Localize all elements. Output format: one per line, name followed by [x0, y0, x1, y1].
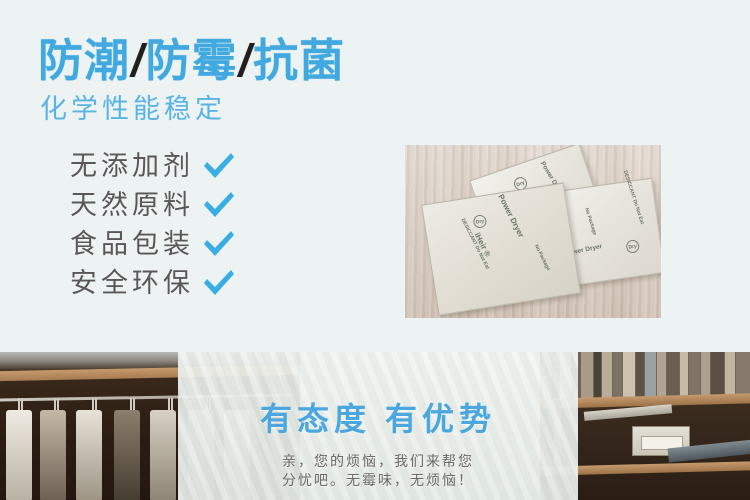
packet-logo: Dry [625, 239, 640, 254]
feature-label: 无添加剂 [70, 150, 194, 182]
garment [150, 410, 176, 500]
list-item: 安全环保 [70, 265, 360, 301]
headline-separator-1: / [130, 35, 146, 86]
banner-subtitle-line-2: 分忧吧。无霉味，无烦恼！ [178, 471, 578, 490]
book [594, 352, 601, 398]
bottom-section: 有态度 有优势 亲，您的烦恼，我们来帮您 分忧吧。无霉味，无烦恼！ [0, 352, 750, 500]
book [736, 352, 750, 398]
headline-part-2: 防霉 [146, 35, 238, 86]
book [680, 352, 688, 398]
garment [76, 410, 102, 500]
check-icon [202, 190, 236, 220]
book [613, 352, 622, 398]
headline-part-3: 抗菌 [253, 35, 345, 86]
book [725, 352, 735, 398]
page-title: 防潮/防霉/抗菌 [38, 36, 345, 86]
packet-logo: Dry [472, 214, 487, 229]
book [657, 352, 666, 398]
banner-subtitle-line-1: 亲，您的烦恼，我们来帮您 [178, 452, 578, 471]
list-item: 食品包装 [70, 226, 360, 262]
desiccant-packet: Dry Power Dryer iHeir ® DESICCANT Do Not… [421, 182, 581, 315]
product-photo: Dry Power Dryer iHeir ® DESICCANT Do Not… [405, 145, 661, 318]
feature-list: 无添加剂 天然原料 食品包装 安全环保 [70, 148, 360, 304]
list-item: 天然原料 [70, 187, 360, 223]
page-subtitle: 化学性能稳定 [40, 92, 226, 126]
garment [6, 410, 32, 500]
garment [40, 410, 66, 500]
check-icon [202, 229, 236, 259]
packet-brand: Power Dryer [496, 193, 525, 239]
promo-banner-page: 防潮/防霉/抗菌 化学性能稳定 无添加剂 天然原料 食品包装 [0, 0, 750, 500]
garment [114, 410, 140, 500]
feature-label: 安全环保 [70, 267, 194, 299]
book [701, 352, 710, 398]
book [581, 352, 593, 398]
check-icon [202, 151, 236, 181]
book [645, 352, 656, 398]
banner-panel: 有态度 有优势 亲，您的烦恼，我们来帮您 分忧吧。无霉味，无烦恼！ [178, 352, 578, 500]
book [689, 352, 700, 398]
packet-note-2: No Package [582, 207, 598, 236]
book [623, 352, 635, 398]
check-icon [202, 268, 236, 298]
banner-title: 有态度 有优势 [178, 400, 578, 438]
top-section: 防潮/防霉/抗菌 化学性能稳定 无添加剂 天然原料 食品包装 [0, 0, 750, 352]
banner-subtitle: 亲，您的烦恼，我们来帮您 分忧吧。无霉味，无烦恼！ [178, 452, 578, 490]
book [711, 352, 724, 398]
list-item: 无添加剂 [70, 148, 360, 184]
packet-note-2: No Package [532, 243, 552, 272]
headline-separator-2: / [238, 35, 254, 86]
feature-label: 食品包装 [70, 228, 194, 260]
feature-label: 天然原料 [70, 189, 194, 221]
book [602, 352, 612, 398]
headline-part-1: 防潮 [38, 35, 130, 86]
book [667, 352, 679, 398]
book [636, 352, 644, 398]
